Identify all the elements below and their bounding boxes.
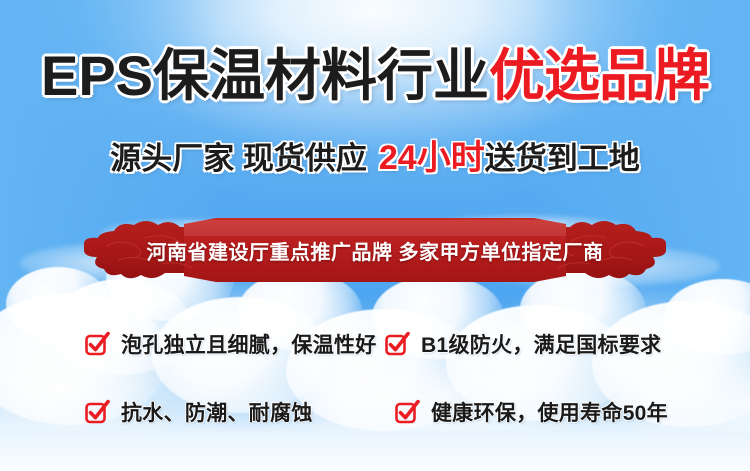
feature-item: 抗水、防潮、耐腐蚀 bbox=[84, 397, 313, 427]
feature-row-2: 抗水、防潮、耐腐蚀 健康环保，使用寿命50年 bbox=[84, 390, 676, 434]
headline: EPS保温材料行业优选品牌 bbox=[0, 48, 750, 104]
promo-banner: EPS保温材料行业优选品牌 源头厂家 现货供应24小时送货到工地 bbox=[0, 0, 750, 471]
feature-row-1: 泡孔独立且细腻，保温性好 B1级防火，满足国标要求 bbox=[84, 322, 676, 366]
feature-label: 泡孔独立且细腻，保温性好 bbox=[121, 329, 377, 359]
checkbox-checked-icon bbox=[84, 399, 110, 425]
feature-item: 泡孔独立且细腻，保温性好 bbox=[84, 329, 377, 359]
subheadline-text-part-1: 源头厂家 现货供应 bbox=[110, 141, 367, 176]
subheadline-highlight-24h: 24小时 bbox=[379, 139, 485, 177]
headline-red-text: 优选品牌 bbox=[489, 44, 709, 107]
ribbon-banner: 河南省建设厅重点推广品牌 多家甲方单位指定厂商 bbox=[84, 216, 666, 284]
feature-item: 健康环保，使用寿命50年 bbox=[394, 397, 668, 427]
subheadline-text-part-2: 送货到工地 bbox=[485, 141, 640, 176]
checkbox-checked-icon bbox=[384, 331, 410, 357]
feature-label: B1级防火，满足国标要求 bbox=[421, 329, 661, 359]
checkbox-checked-icon bbox=[394, 399, 420, 425]
feature-label: 健康环保，使用寿命50年 bbox=[431, 397, 668, 427]
headline-dark-text: EPS保温材料行业 bbox=[41, 44, 489, 107]
feature-label: 抗水、防潮、耐腐蚀 bbox=[121, 397, 313, 427]
feature-item: B1级防火，满足国标要求 bbox=[384, 329, 661, 359]
ribbon-label: 河南省建设厅重点推广品牌 多家甲方单位指定厂商 bbox=[84, 216, 666, 284]
checkbox-checked-icon bbox=[84, 331, 110, 357]
subheadline: 源头厂家 现货供应24小时送货到工地 bbox=[0, 141, 750, 175]
feature-list: 泡孔独立且细腻，保温性好 B1级防火，满足国标要求 bbox=[84, 318, 676, 448]
